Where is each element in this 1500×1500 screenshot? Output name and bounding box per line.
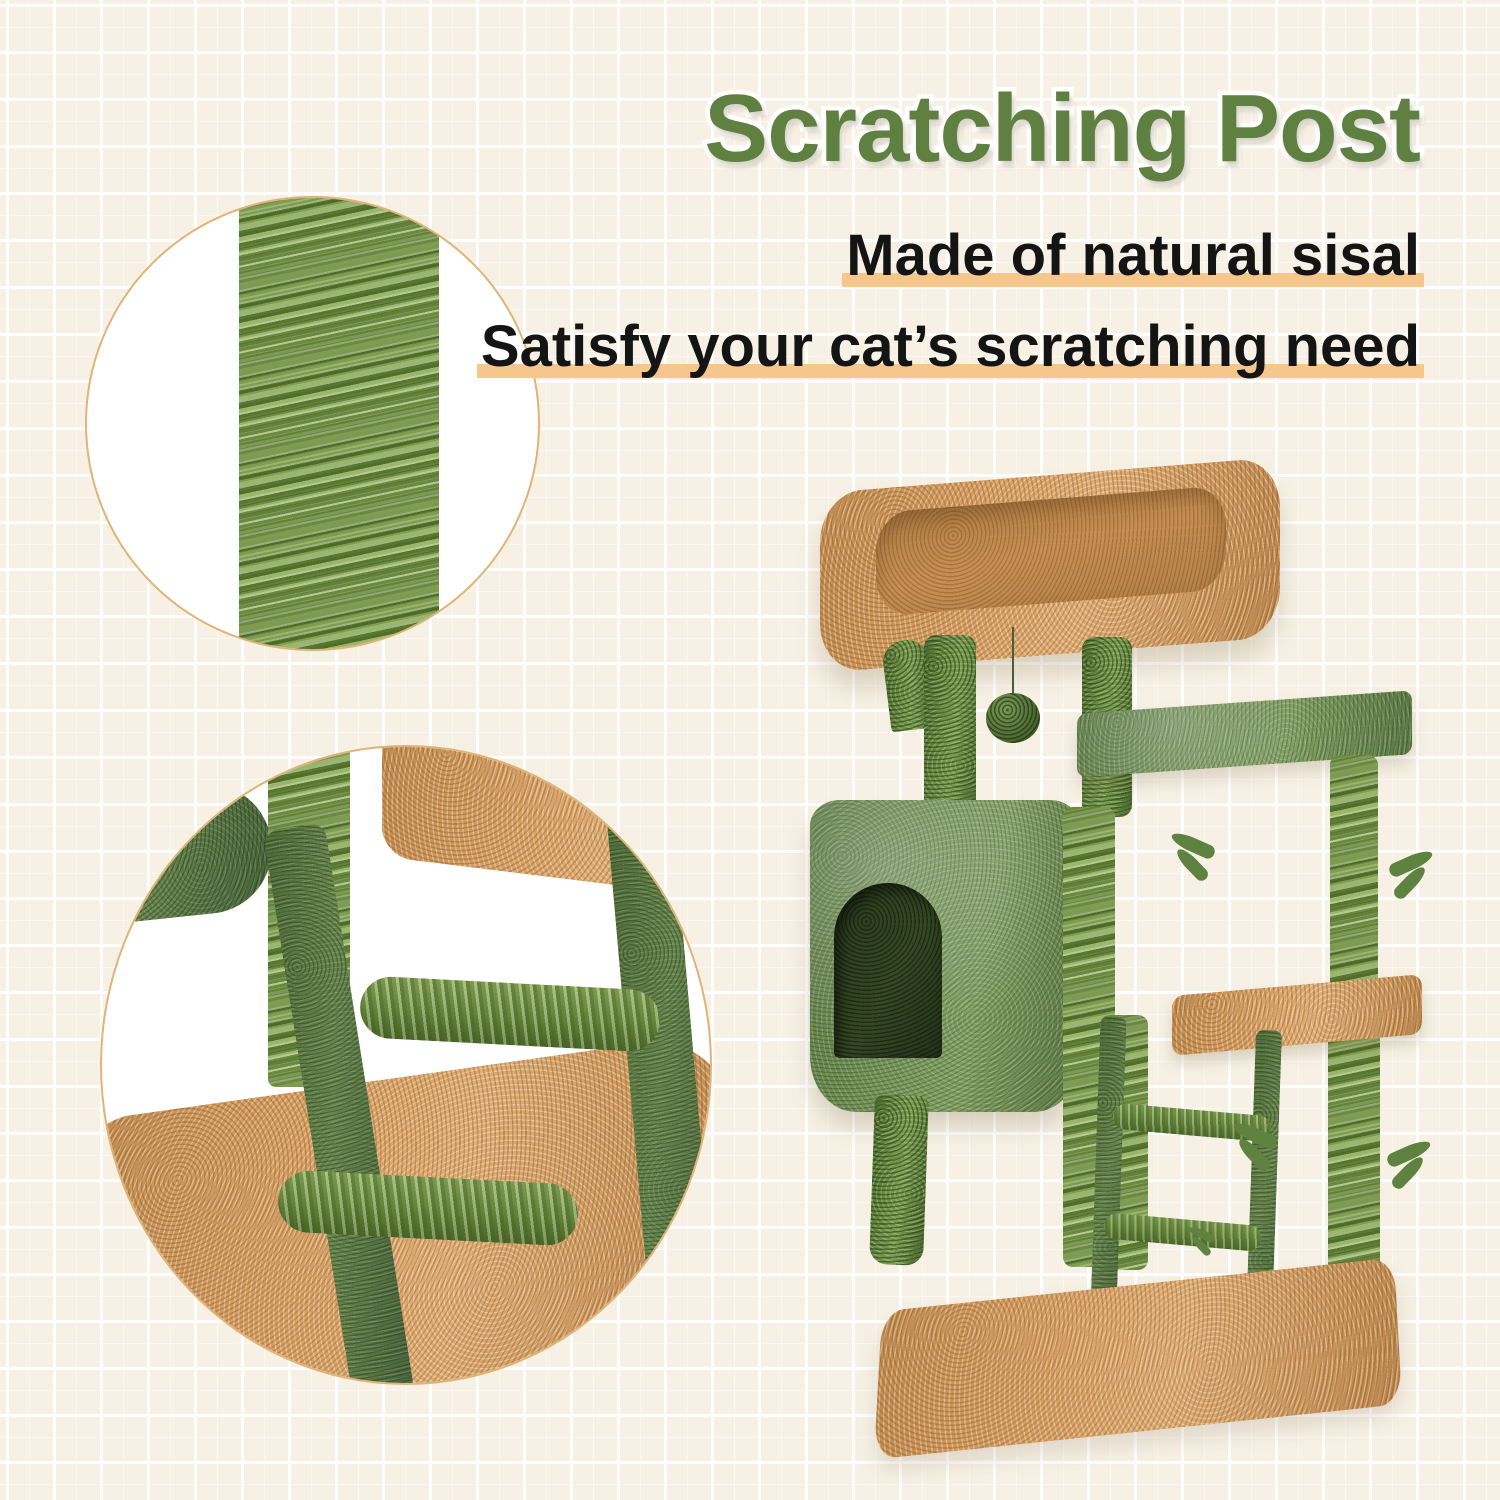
subtitle-line-1: Made of natural sisal bbox=[846, 222, 1420, 289]
pompom-toy-ball bbox=[986, 693, 1040, 743]
pompom-string bbox=[1012, 627, 1014, 697]
detail-circle-ladder bbox=[100, 745, 712, 1385]
carpet-base-mat bbox=[874, 1258, 1402, 1460]
subtitle-line-1-text: Made of natural sisal bbox=[846, 223, 1420, 288]
ladder-rung-lower bbox=[1103, 1212, 1263, 1252]
closeup-cactus-arm bbox=[100, 777, 278, 930]
sisal-rope-post-image bbox=[239, 196, 439, 651]
page-title: Scratching Post bbox=[430, 80, 1420, 178]
condo-support-leg bbox=[869, 1094, 929, 1266]
subtitle-line-2: Satisfy your cat’s scratching need bbox=[481, 313, 1420, 380]
subtitle-line-2-text: Satisfy your cat’s scratching need bbox=[481, 314, 1420, 379]
closeup-ladder-rung-upper bbox=[359, 975, 662, 1053]
condo-door-opening bbox=[834, 883, 942, 1058]
product-photo-cat-tree bbox=[790, 455, 1480, 1465]
headline-block: Scratching Post Made of natural sisal Sa… bbox=[430, 80, 1420, 380]
